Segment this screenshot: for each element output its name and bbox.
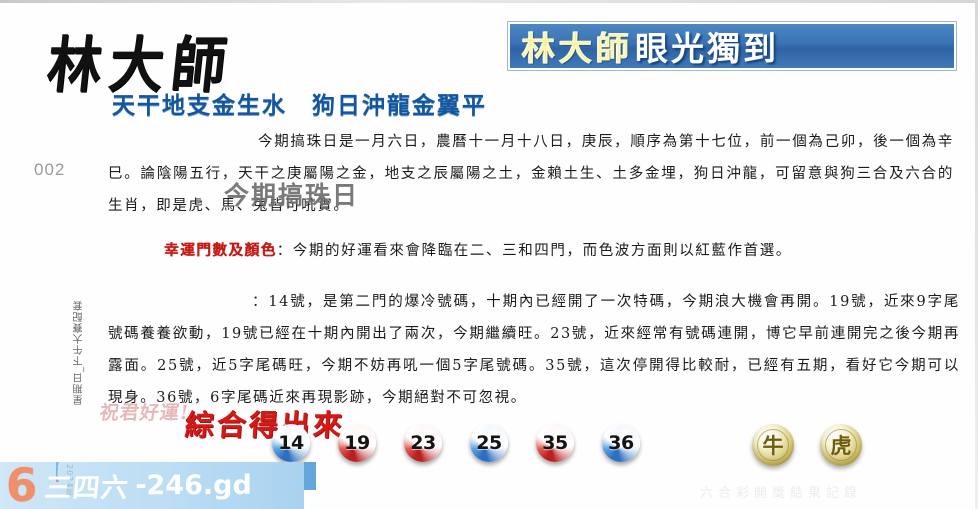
zodiac-label: 虎 bbox=[831, 430, 852, 460]
watermark-domain: -246.gd bbox=[135, 470, 251, 501]
article-paragraph-2: ：14號，是第二門的爆冷號碼，十期內已經開了一次特碼，今期浪大機會再開。19號，… bbox=[108, 286, 960, 414]
zodiac-ball: 牛 bbox=[752, 424, 794, 466]
side-caption: 星期日_下午大賽配套 bbox=[72, 300, 87, 405]
ball-number: 23 bbox=[410, 432, 435, 454]
site-watermark: 6 2024年 三四六 -246.gd bbox=[0, 462, 304, 509]
page-number: 002 bbox=[34, 160, 65, 180]
watermark-six-logo: 6 bbox=[6, 463, 37, 508]
faint-watermark: 六合彩開獎結果記錄 bbox=[700, 482, 862, 501]
lucky-label: 幸運門數及顏色 bbox=[164, 242, 277, 259]
stamp-grey-overlay: 今期搞珠日 bbox=[224, 176, 359, 212]
lottery-ball-row: 14 19 23 25 35 36 bbox=[272, 424, 640, 462]
watermark-cn-text: 三四六 bbox=[43, 466, 131, 505]
promo-banner: 林大師 眼光獨到 bbox=[508, 22, 956, 70]
lottery-ball: 36 bbox=[602, 424, 640, 462]
ball-number: 36 bbox=[608, 432, 633, 454]
ball-number: 14 bbox=[278, 432, 303, 454]
newspaper-page: 林大師 天干地支金生水 狗日沖龍金翼平 林大師 眼光獨到 002 星期日_下午大… bbox=[0, 0, 978, 509]
zodiac-label: 牛 bbox=[763, 430, 784, 460]
ball-number: 25 bbox=[476, 432, 501, 454]
top-divider bbox=[0, 0, 978, 3]
lucky-line: 幸運門數及顏色：今期的好運看來會降臨在二、三和四門，而色波方面則以紅藍作首選。 bbox=[164, 236, 954, 266]
zodiac-ball-row: 牛 虎 bbox=[752, 424, 862, 466]
lottery-ball: 23 bbox=[404, 424, 442, 462]
page-title: 天干地支金生水 狗日沖龍金翼平 bbox=[112, 86, 487, 120]
lottery-ball: 25 bbox=[470, 424, 508, 462]
lottery-ball: 14 bbox=[272, 424, 310, 462]
lottery-ball: 19 bbox=[338, 424, 376, 462]
banner-primary-text: 林大師 bbox=[522, 22, 633, 70]
ball-number: 19 bbox=[344, 432, 369, 454]
ball-number: 35 bbox=[542, 432, 567, 454]
banner-secondary-text: 眼光獨到 bbox=[635, 22, 779, 70]
lottery-ball: 35 bbox=[536, 424, 574, 462]
lucky-text: ：今期的好運看來會降臨在二、三和四門，而色波方面則以紅藍作首選。 bbox=[277, 243, 792, 259]
zodiac-ball: 虎 bbox=[820, 424, 862, 466]
stamp-thanks: 祝君好運! bbox=[98, 398, 191, 425]
